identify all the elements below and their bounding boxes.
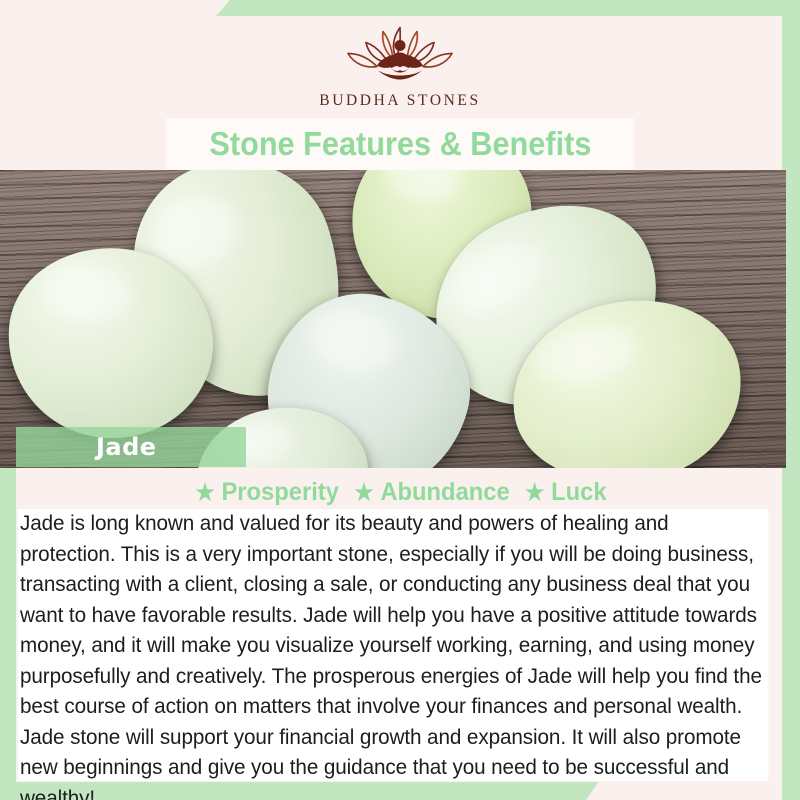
brand-logo: BUDDHA STONES (0, 22, 800, 110)
stone-description: Jade is long known and valued for its be… (18, 509, 769, 781)
decor-top-green-band (216, 0, 784, 16)
keyword-luck: Luck (551, 478, 606, 506)
star-icon-3: ★ (525, 479, 545, 505)
star-icon-2: ★ (354, 479, 374, 505)
page-title: Stone Features & Benefits (209, 125, 591, 163)
brand-wordmark: BUDDHA STONES (0, 92, 800, 110)
stone-photo (0, 170, 786, 468)
content-panel: ★Prosperity★Abundance★Luck Jade is long … (16, 468, 782, 782)
stone-name-label: Jade (96, 433, 157, 461)
lotus-meditation-icon (335, 22, 465, 88)
stone-info-poster: BUDDHA STONES Stone Features & Benefits … (0, 0, 800, 800)
keyword-prosperity: Prosperity (221, 478, 338, 506)
title-band: Stone Features & Benefits (166, 118, 634, 170)
star-icon-1: ★ (195, 479, 215, 505)
keyword-abundance: Abundance (380, 478, 509, 506)
keyword-list: ★Prosperity★Abundance★Luck (35, 468, 763, 507)
stone-name-badge: Jade (16, 427, 246, 467)
